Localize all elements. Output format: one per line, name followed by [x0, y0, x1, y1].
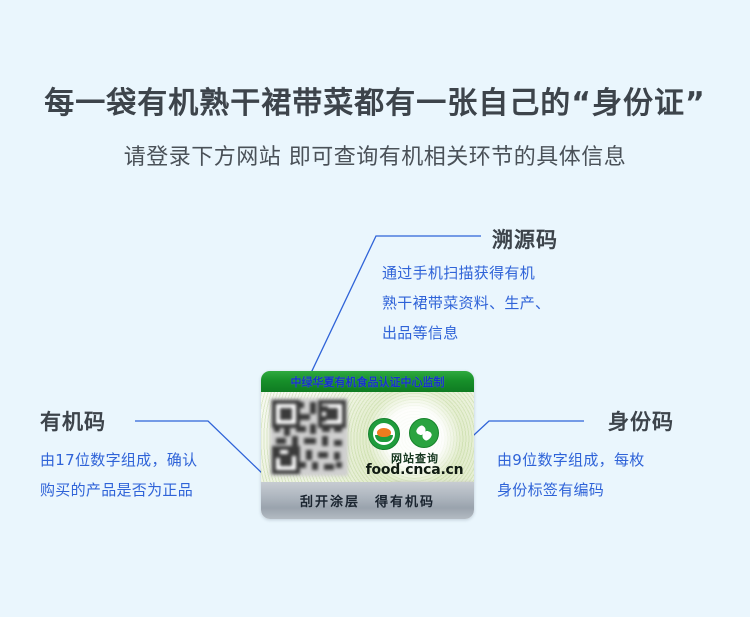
label-website-url[interactable]: food.cnca.cn — [357, 462, 472, 478]
cqc-certification-logo-icon — [409, 418, 439, 448]
annotation-line: 由17位数字组成，确认 — [40, 445, 197, 475]
leader-lines — [0, 0, 750, 617]
infographic-page: 每一袋有机熟干裙带菜都有一张自己的“身份证” 请登录下方网站 即可查询有机相关环… — [0, 0, 750, 617]
annotation-title-traceability-code: 溯源码 — [492, 224, 558, 254]
certification-label-card: 中绿华夏有机食品认证中心监制 — [261, 371, 474, 519]
label-green-header-text: 中绿华夏有机食品认证中心监制 — [291, 373, 445, 390]
label-body: 网站查询 food.cnca.cn 身份码 — [261, 392, 474, 482]
annotation-body-identity-code: 由9位数字组成，每枚 身份标签有编码 — [497, 445, 645, 505]
annotation-line: 身份标签有编码 — [497, 475, 645, 505]
scratch-off-strip-text: 刮开涂层 得有机码 — [300, 491, 435, 510]
annotation-line: 通过手机扫描获得有机 — [382, 258, 550, 288]
annotation-line: 熟干裙带菜资料、生产、 — [382, 288, 550, 318]
qr-code[interactable] — [270, 398, 348, 476]
annotation-line: 出品等信息 — [382, 318, 550, 348]
annotation-body-organic-code: 由17位数字组成，确认 购买的产品是否为正品 — [40, 445, 197, 505]
annotation-line: 购买的产品是否为正品 — [40, 475, 197, 505]
organic-certification-logo-icon — [368, 418, 400, 450]
annotation-title-organic-code: 有机码 — [40, 406, 106, 436]
scratch-off-strip[interactable]: 刮开涂层 得有机码 — [261, 482, 474, 519]
annotation-title-identity-code: 身份码 — [608, 406, 674, 436]
annotation-body-traceability-code: 通过手机扫描获得有机 熟干裙带菜资料、生产、 出品等信息 — [382, 258, 550, 348]
label-green-header: 中绿华夏有机食品认证中心监制 — [261, 371, 474, 392]
annotation-line: 由9位数字组成，每枚 — [497, 445, 645, 475]
